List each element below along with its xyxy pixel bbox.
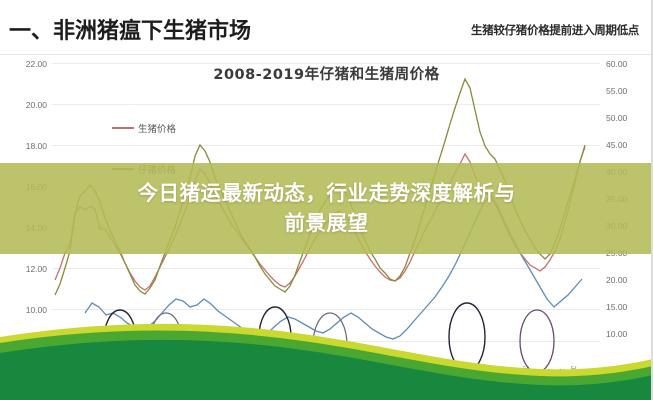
page-title: 一、非洲猪瘟下生猪市场: [9, 13, 251, 45]
headline-overlay-text: 今日猪运最新动态，行业走势深度解析与 前景展望: [0, 163, 653, 254]
legend-label-hog: 生猪价格: [138, 124, 176, 135]
header-annotation-note: 生猪较仔猪价格提前进入周期低点: [471, 22, 639, 38]
slide-header: 一、非洲猪瘟下生猪市场 生猪较仔猪价格提前进入周期低点: [0, 0, 653, 55]
article-image-card: 一、非洲猪瘟下生猪市场 生猪较仔猪价格提前进入周期低点 2008-2019年仔猪…: [0, 0, 653, 400]
headline-line-2: 前景展望: [285, 209, 369, 239]
headline-line-1: 今日猪运最新动态，行业走势深度解析与: [138, 179, 516, 209]
legend-swatch-hog-icon: [112, 127, 134, 129]
decorative-wave-graphic: [0, 315, 653, 400]
legend-item-hog-price: 生猪价格: [112, 119, 176, 137]
